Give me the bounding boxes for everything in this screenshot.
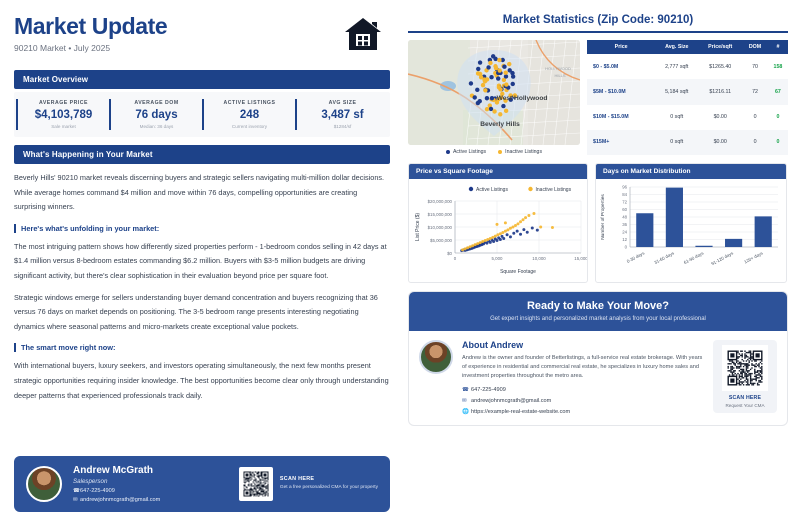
svg-text:24: 24 <box>622 230 627 235</box>
metric-note: Sale market <box>20 124 107 129</box>
about-title: About Andrew <box>462 340 707 350</box>
left-column: Market Update 90210 Market • July 2025 M… <box>0 0 400 520</box>
table-row: $5M - $10.0M5,184 sqft$1216.117267 <box>587 79 788 104</box>
cell-value: $0.00 <box>698 105 742 130</box>
charts-row: Price vs Square Footage Active ListingsI… <box>408 163 788 283</box>
avatar <box>419 340 453 374</box>
narrative-para-2: Strategic windows emerge for sellers und… <box>14 291 390 335</box>
table-header-row: Price Avg. Size Price/sqft DOM # <box>587 40 788 54</box>
svg-text:$15,000,000: $15,000,000 <box>428 212 453 217</box>
cell-count: 67 <box>768 79 788 104</box>
days-on-market-chart: 012243648607284960-30 days31-60 days61-9… <box>596 179 786 277</box>
svg-text:HILLS: HILLS <box>554 73 565 78</box>
cell-value: $1216.11 <box>698 79 742 104</box>
column-avg-size: Avg. Size <box>655 40 698 54</box>
market-report-page: Market Update 90210 Market • July 2025 M… <box>0 0 800 520</box>
agent-info: Andrew McGrath Salesperson ☎ 647-225-490… <box>73 465 239 503</box>
svg-text:Inactive Listings: Inactive Listings <box>536 187 572 193</box>
cell-price: $0 - $5.0M <box>587 54 655 79</box>
scan-note: Get a free personalized CMA for your pro… <box>280 484 378 491</box>
cta-website: https://example-real-estate-website.com <box>471 409 570 415</box>
legend-label: Inactive Listings <box>505 149 542 155</box>
email-icon: ✉ <box>462 398 471 404</box>
report-header: Market Update 90210 Market • July 2025 <box>14 14 390 59</box>
metric-value: 248 <box>206 109 293 121</box>
cta-header: Ready to Make Your Move? Get expert insi… <box>409 292 787 331</box>
svg-text:Active Listings: Active Listings <box>476 187 508 193</box>
svg-text:36: 36 <box>622 222 627 227</box>
bar-chart-title: Days on Market Distribution <box>596 164 786 179</box>
agent-name: Andrew McGrath <box>73 465 239 476</box>
cell-count: 158 <box>768 54 788 79</box>
scan-title: SCAN HERE <box>280 476 378 482</box>
agent-contact-card: Andrew McGrath Salesperson ☎ 647-225-490… <box>14 456 390 512</box>
svg-text:Number of Properties: Number of Properties <box>600 194 606 240</box>
agent-phone-row[interactable]: ☎ 647-225-4909 <box>73 488 239 494</box>
cta-body: About Andrew Andrew is the owner and fou… <box>409 331 787 425</box>
qr-code[interactable] <box>722 345 768 391</box>
cta-qr-panel[interactable]: SCAN HERE Request Your CMA <box>713 340 777 413</box>
cell-price: $15M+ <box>587 130 655 155</box>
column-price: Price <box>587 40 655 54</box>
cta-website-row[interactable]: 🌐 https://example-real-estate-website.co… <box>462 409 707 415</box>
legend-label: Active Listings <box>453 149 486 155</box>
price-vs-sqft-chart: Active ListingsInactive Listings$0$5,000… <box>409 179 587 277</box>
metric-note: $1284/sf <box>299 124 386 129</box>
table-row: $15M+0 sqft$0.0000 <box>587 130 788 155</box>
cell-value: 0 sqft <box>655 130 698 155</box>
column-dom: DOM <box>742 40 768 54</box>
cta-panel: Ready to Make Your Move? Get expert insi… <box>408 291 788 426</box>
statistics-title: Market Statistics (Zip Code: 90210) <box>408 14 788 26</box>
about-text: Andrew is the owner and founder of Bette… <box>462 354 707 382</box>
column-price-sqft: Price/sqft <box>698 40 742 54</box>
scatter-chart-title: Price vs Square Footage <box>409 164 587 179</box>
legend-item-active: Active Listings <box>446 149 486 155</box>
narrative-para-1: The most intriguing pattern shows how di… <box>14 240 390 284</box>
cta-qr-title: SCAN HERE <box>718 395 772 401</box>
page-subtitle: 90210 Market • July 2025 <box>14 43 167 53</box>
bar-chart-panel: Days on Market Distribution 012243648607… <box>595 163 787 283</box>
table-row: $0 - $5.0M2,777 sqft$1265.4070158 <box>587 54 788 79</box>
scan-info: SCAN HERE Get a free personalized CMA fo… <box>280 476 378 491</box>
phone-icon: ☎ <box>73 488 80 494</box>
legend-item-inactive: Inactive Listings <box>498 149 542 155</box>
phone-icon: ☎ <box>462 387 471 393</box>
metric-value: 3,487 sf <box>299 109 386 121</box>
page-title: Market Update <box>14 14 167 38</box>
svg-text:Beverly Hills: Beverly Hills <box>480 121 520 128</box>
statistics-row: West HollywoodBeverly HillsHOLLYWOODHILL… <box>408 40 788 155</box>
metric-label: AVERAGE DOM <box>113 100 200 106</box>
cell-value: 0 <box>742 105 768 130</box>
svg-text:Square Footage: Square Footage <box>500 269 536 275</box>
metric-label: AVG SIZE <box>299 100 386 106</box>
svg-text:96: 96 <box>622 185 627 190</box>
svg-text:84: 84 <box>622 192 627 197</box>
legend-dot-inactive <box>498 150 502 154</box>
legend-dot-active <box>446 150 450 154</box>
map-legend: Active Listings Inactive Listings <box>408 149 580 155</box>
cell-count: 0 <box>768 130 788 155</box>
agent-email: andrewjohnmcgrath@gmail.com <box>80 497 160 503</box>
right-column: Market Statistics (Zip Code: 90210) West… <box>400 0 800 520</box>
narrative-intro: Beverly Hills' 90210 market reveals disc… <box>14 171 390 215</box>
market-overview-header: Market Overview <box>14 70 390 89</box>
narrative-para-3: With international buyers, luxury seeker… <box>14 359 390 403</box>
metric-average-dom: AVERAGE DOM 76 days Median: 36 days <box>109 99 202 130</box>
email-icon: ✉ <box>73 497 80 503</box>
cta-email-row[interactable]: ✉ andrewjohnmcgrath@gmail.com <box>462 398 707 404</box>
narrative-heading-1: Here's what's unfolding in your market: <box>14 224 390 233</box>
narrative-heading-2: The smart move right now: <box>14 343 390 352</box>
house-icon <box>342 16 384 59</box>
qr-code[interactable] <box>239 467 273 501</box>
svg-text:12: 12 <box>622 237 627 242</box>
svg-text:72: 72 <box>622 200 627 205</box>
listings-map[interactable]: West HollywoodBeverly HillsHOLLYWOODHILL… <box>408 40 580 145</box>
metric-label: ACTIVE LISTINGS <box>206 100 293 106</box>
metric-value: $4,103,789 <box>20 109 107 121</box>
cell-value: 5,184 sqft <box>655 79 698 104</box>
svg-text:$20,000,000: $20,000,000 <box>428 199 453 204</box>
metric-average-price: AVERAGE PRICE $4,103,789 Sale market <box>16 99 109 130</box>
table-row: $10M - $15.0M0 sqft$0.0000 <box>587 105 788 130</box>
cell-value: 2,777 sqft <box>655 54 698 79</box>
cell-price: $10M - $15.0M <box>587 105 655 130</box>
cell-value: 0 sqft <box>655 105 698 130</box>
cell-value: $0.00 <box>698 130 742 155</box>
title-divider <box>408 31 788 33</box>
column-count: # <box>768 40 788 54</box>
about-section: About Andrew Andrew is the owner and fou… <box>462 340 707 415</box>
agent-email-row[interactable]: ✉ andrewjohnmcgrath@gmail.com <box>73 497 239 503</box>
cell-price: $5M - $10.0M <box>587 79 655 104</box>
metric-avg-size: AVG SIZE 3,487 sf $1284/sf <box>295 99 388 130</box>
svg-text:5,000: 5,000 <box>492 256 504 261</box>
price-statistics-table: Price Avg. Size Price/sqft DOM # $0 - $5… <box>587 40 788 155</box>
metric-note: Current inventory <box>206 124 293 129</box>
scatter-chart-panel: Price vs Square Footage Active ListingsI… <box>408 163 588 283</box>
cell-value: 70 <box>742 54 768 79</box>
svg-text:60: 60 <box>622 207 627 212</box>
globe-icon: 🌐 <box>462 409 471 415</box>
svg-text:$0: $0 <box>447 251 452 256</box>
cta-phone: 647-225-4909 <box>471 387 506 393</box>
svg-text:48: 48 <box>622 215 627 220</box>
cta-qr-note: Request Your CMA <box>718 403 772 408</box>
metric-note: Median: 36 days <box>113 124 200 129</box>
svg-text:List Price ($): List Price ($) <box>415 213 421 241</box>
cell-value: 72 <box>742 79 768 104</box>
svg-text:$5,000,000: $5,000,000 <box>430 238 453 243</box>
narrative-header: What's Happening in Your Market <box>14 145 390 164</box>
agent-role: Salesperson <box>73 478 239 485</box>
metric-value: 76 days <box>113 109 200 121</box>
svg-text:HOLLYWOOD: HOLLYWOOD <box>545 66 571 71</box>
svg-text:15,000: 15,000 <box>574 256 587 261</box>
agent-phone: 647-225-4909 <box>80 488 115 494</box>
cell-value: $1265.40 <box>698 54 742 79</box>
cta-email: andrewjohnmcgrath@gmail.com <box>471 398 551 404</box>
metric-label: AVERAGE PRICE <box>20 100 107 106</box>
cta-title: Ready to Make Your Move? <box>415 300 781 312</box>
svg-text:West Hollywood: West Hollywood <box>497 95 548 102</box>
metrics-row: AVERAGE PRICE $4,103,789 Sale market AVE… <box>14 92 390 137</box>
avatar <box>26 466 62 502</box>
map-panel: West HollywoodBeverly HillsHOLLYWOODHILL… <box>408 40 580 155</box>
cta-phone-row[interactable]: ☎ 647-225-4909 <box>462 387 707 393</box>
metric-active-listings: ACTIVE LISTINGS 248 Current inventory <box>202 99 295 130</box>
cell-value: 0 <box>742 130 768 155</box>
cta-subtitle: Get expert insights and personalized mar… <box>415 316 781 322</box>
cell-count: 0 <box>768 105 788 130</box>
svg-text:$10,000,000: $10,000,000 <box>428 225 453 230</box>
svg-text:10,000: 10,000 <box>532 256 546 261</box>
